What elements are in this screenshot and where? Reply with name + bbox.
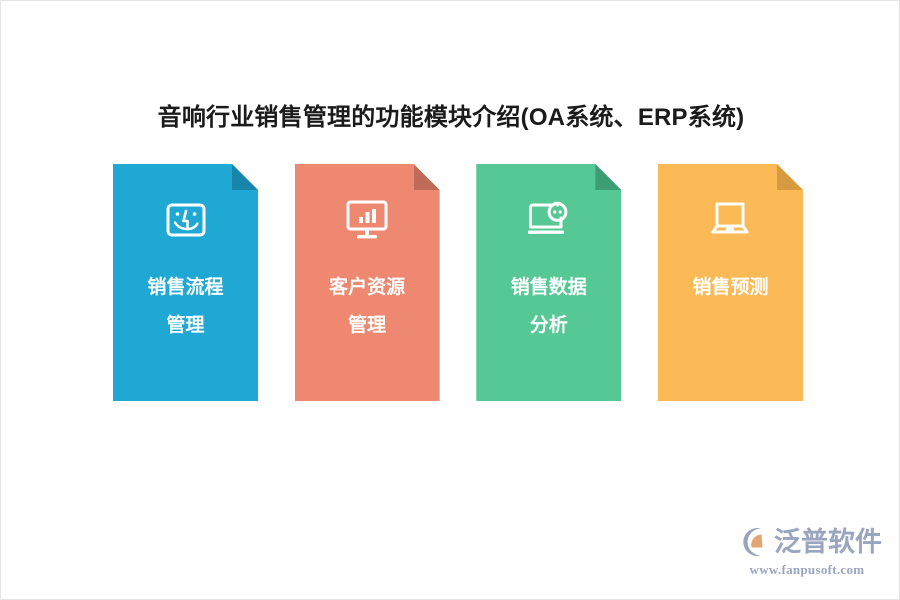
card-folded-corner bbox=[414, 164, 440, 190]
card-label-line2: 管理 bbox=[295, 307, 440, 345]
feature-card-customer-resource-management[interactable]: 客户资源 管理 bbox=[295, 164, 440, 401]
brand-name: 泛普软件 bbox=[774, 525, 882, 559]
card-label: 销售预测 bbox=[658, 269, 803, 307]
card-label: 销售流程 管理 bbox=[113, 269, 258, 345]
brand-watermark: 泛普软件 www.fanpusoft.com bbox=[737, 523, 877, 581]
card-folded-corner bbox=[777, 164, 803, 190]
laptop-timer-icon bbox=[522, 195, 576, 245]
feature-card-sales-forecast[interactable]: 销售预测 bbox=[658, 164, 803, 401]
card-folded-corner bbox=[232, 164, 258, 190]
card-label: 客户资源 管理 bbox=[295, 269, 440, 345]
card-label-line2: 管理 bbox=[113, 307, 258, 345]
brand-url: www.fanpusoft.com bbox=[737, 562, 877, 578]
feature-card-row: 销售流程 管理 客户资源 管理 bbox=[113, 164, 803, 401]
feature-card-sales-process-management[interactable]: 销售流程 管理 bbox=[113, 164, 258, 401]
fanpu-arc-icon bbox=[737, 525, 771, 559]
card-label-line1: 销售数据 bbox=[476, 269, 621, 307]
finder-face-icon bbox=[159, 195, 213, 245]
laptop-icon bbox=[703, 195, 757, 245]
card-label-line1: 客户资源 bbox=[295, 269, 440, 307]
feature-card-sales-data-analysis[interactable]: 销售数据 分析 bbox=[476, 164, 621, 401]
monitor-chart-icon bbox=[340, 195, 394, 245]
page-title: 音响行业销售管理的功能模块介绍(OA系统、ERP系统) bbox=[1, 97, 900, 132]
card-folded-corner bbox=[595, 164, 621, 190]
infographic-page: 音响行业销售管理的功能模块介绍(OA系统、ERP系统) 销售流程 管理 bbox=[0, 0, 900, 600]
card-label: 销售数据 分析 bbox=[476, 269, 621, 345]
card-label-line2: 分析 bbox=[476, 307, 621, 345]
card-label-line1: 销售预测 bbox=[658, 269, 803, 307]
card-label-line1: 销售流程 bbox=[113, 269, 258, 307]
brand-logo-row: 泛普软件 bbox=[737, 523, 877, 561]
